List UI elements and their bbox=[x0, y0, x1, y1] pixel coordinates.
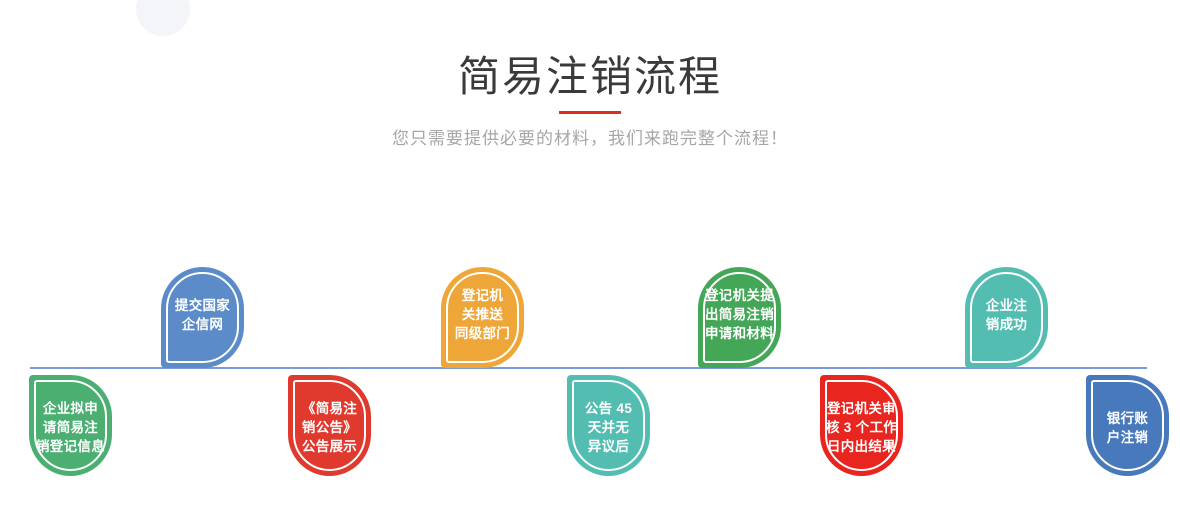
timeline-step-7[interactable]: 登记机关审 核 3 个工作 日内出结果 bbox=[820, 375, 903, 476]
process-timeline: 企业拟申 请简易注 销登记信息提交国家 企信网《简易注 销公告》 公告展示登记机… bbox=[0, 0, 1180, 516]
timeline-step-5[interactable]: 公告 45 天并无 异议后 bbox=[567, 375, 650, 476]
timeline-step-label: 公告 45 天并无 异议后 bbox=[580, 399, 637, 456]
timeline-step-3[interactable]: 《简易注 销公告》 公告展示 bbox=[288, 375, 371, 476]
timeline-step-6[interactable]: 登记机关提 出简易注销 申请和材料 bbox=[698, 267, 781, 368]
timeline-step-2[interactable]: 提交国家 企信网 bbox=[161, 267, 244, 368]
timeline-step-8[interactable]: 企业注 销成功 bbox=[965, 267, 1048, 368]
timeline-step-label: 企业注 销成功 bbox=[981, 296, 1032, 334]
timeline-step-label: 银行账 户注销 bbox=[1102, 409, 1153, 447]
timeline-step-label: 企业拟申 请简易注 销登记信息 bbox=[31, 399, 110, 456]
timeline-step-label: 登记机 关推送 同级部门 bbox=[450, 286, 515, 343]
timeline-step-1[interactable]: 企业拟申 请简易注 销登记信息 bbox=[29, 375, 112, 476]
timeline-step-4[interactable]: 登记机 关推送 同级部门 bbox=[441, 267, 524, 368]
timeline-step-label: 《简易注 销公告》 公告展示 bbox=[297, 399, 362, 456]
timeline-step-9[interactable]: 银行账 户注销 bbox=[1086, 375, 1169, 476]
timeline-step-label: 登记机关提 出简易注销 申请和材料 bbox=[700, 286, 779, 343]
timeline-step-label: 登记机关审 核 3 个工作 日内出结果 bbox=[821, 399, 902, 456]
timeline-step-label: 提交国家 企信网 bbox=[170, 296, 235, 334]
